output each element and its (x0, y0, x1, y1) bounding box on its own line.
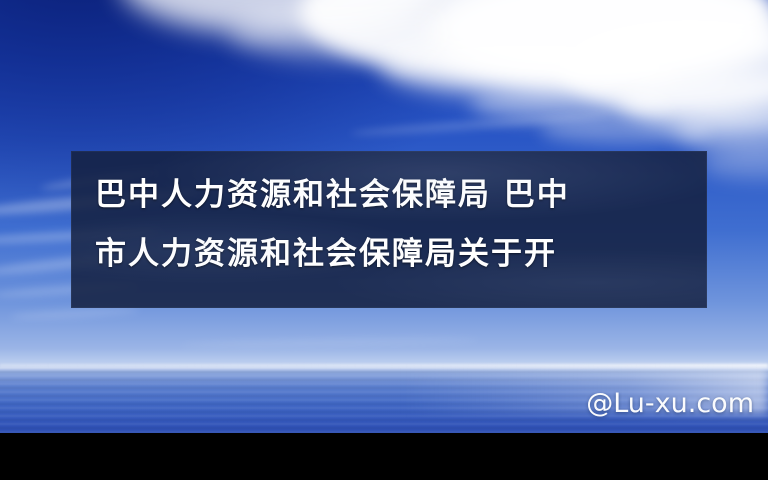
cloud-puff-icon (700, 150, 768, 180)
title-line-2: 市人力资源和社会保障局关于开 (95, 224, 693, 284)
title-overlay-panel: 巴中人力资源和社会保障局 巴中 市人力资源和社会保障局关于开 (71, 151, 707, 308)
cirrus-streak (10, 307, 140, 321)
title-line-1: 巴中人力资源和社会保障局 巴中 (95, 165, 693, 225)
watermark-text: @Lu-xu.com (586, 388, 754, 419)
cirrus-streak (180, 337, 480, 347)
screenshot-root: 巴中人力资源和社会保障局 巴中 市人力资源和社会保障局关于开 @Lu-xu.co… (0, 0, 768, 480)
bottom-letterbox-bar (0, 433, 768, 480)
cloud-puff-icon (230, 8, 460, 60)
